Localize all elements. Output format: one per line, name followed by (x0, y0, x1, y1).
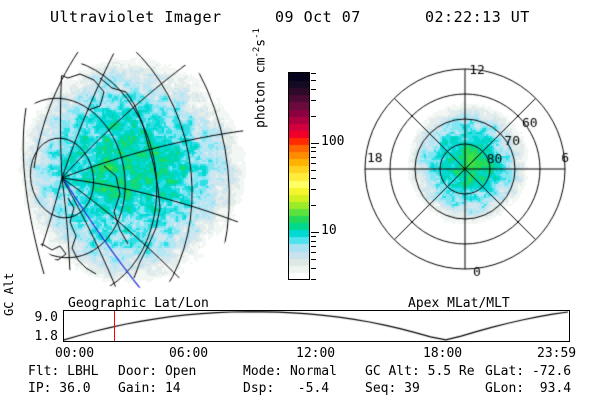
colorbar-tick (311, 80, 316, 81)
status-field: GLat: -72.6 (485, 364, 571, 379)
colorbar-gradient (288, 72, 310, 280)
colorbar-tick (311, 236, 316, 237)
colorbar-tick (311, 189, 316, 190)
colorbar-tick (311, 205, 316, 206)
colorbar-tick (311, 157, 316, 158)
colorbar-tick (311, 116, 316, 117)
altitude-xtick-label: 18:00 (423, 346, 462, 361)
colorbar-tick (311, 252, 316, 253)
status-field: Gain: 14 (118, 381, 181, 396)
colorbar-axis-label: photon cm-2s-1 (252, 28, 268, 128)
colorbar-canvas (289, 73, 309, 279)
colorbar: photon cm-2s-1 10010 (288, 70, 358, 282)
colorbar-tick (311, 246, 316, 247)
colorbar-tick (311, 241, 316, 242)
status-field: Mode: Normal (243, 364, 337, 379)
altitude-curve (64, 311, 569, 341)
colorbar-tick (311, 147, 316, 148)
status-field: Dsp: -5.4 (243, 381, 329, 396)
geographic-aurora-image[interactable] (8, 48, 256, 292)
status-field: Flt: LBHL (28, 364, 98, 379)
colorbar-tick (311, 100, 316, 101)
colorbar-tick (311, 163, 316, 164)
colorbar-tick (311, 73, 316, 74)
colorbar-tick (311, 232, 319, 233)
colorbar-tick (311, 89, 316, 90)
colorbar-tick (311, 170, 316, 171)
colorbar-tick (311, 143, 319, 144)
colorbar-tick (311, 259, 316, 260)
status-field: IP: 36.0 (28, 381, 91, 396)
status-field: GC Alt: 5.5 Re (365, 364, 475, 379)
altitude-ytick-min: 1.8 (24, 329, 58, 344)
apex-mlat-mlt-plot[interactable] (352, 48, 592, 292)
colorbar-tick (311, 151, 316, 152)
status-field: GLon: 93.4 (485, 381, 571, 396)
altitude-ytick-max: 9.0 (24, 310, 58, 325)
status-field: Seq: 39 (365, 381, 420, 396)
altitude-xtick-label: 12:00 (296, 346, 335, 361)
altitude-plot-area[interactable] (63, 310, 570, 342)
altitude-strip: Geographic Lat/Lon Apex MLat/MLT GC Alt … (0, 296, 600, 356)
current-time-marker (114, 311, 115, 341)
colorbar-tick (311, 178, 316, 179)
observation-date: 09 Oct 07 (275, 8, 361, 26)
colorbar-tick-label: 10 (321, 226, 337, 236)
instrument-title: Ultraviolet Imager (50, 8, 222, 26)
status-bar: Flt: LBHLIP: 36.0Door: OpenGain: 14Mode:… (0, 362, 600, 400)
observation-time: 02:22:13 UT (425, 8, 530, 26)
geographic-panel-title: Geographic Lat/Lon (68, 296, 209, 311)
colorbar-tick (311, 268, 316, 269)
colorbar-tick (311, 279, 316, 280)
altitude-xtick-label: 23:59 (537, 346, 576, 361)
colorbar-tick-label: 100 (321, 137, 344, 147)
magnetic-panel-title: Apex MLat/MLT (408, 296, 510, 311)
altitude-xtick-label: 06:00 (169, 346, 208, 361)
geographic-image-panel[interactable] (8, 48, 256, 292)
altitude-y-axis-label: GC Alt (2, 273, 16, 316)
status-field: Door: Open (118, 364, 196, 379)
altitude-xtick-label: 00:00 (55, 346, 94, 361)
magnetic-polar-panel[interactable] (352, 48, 592, 292)
